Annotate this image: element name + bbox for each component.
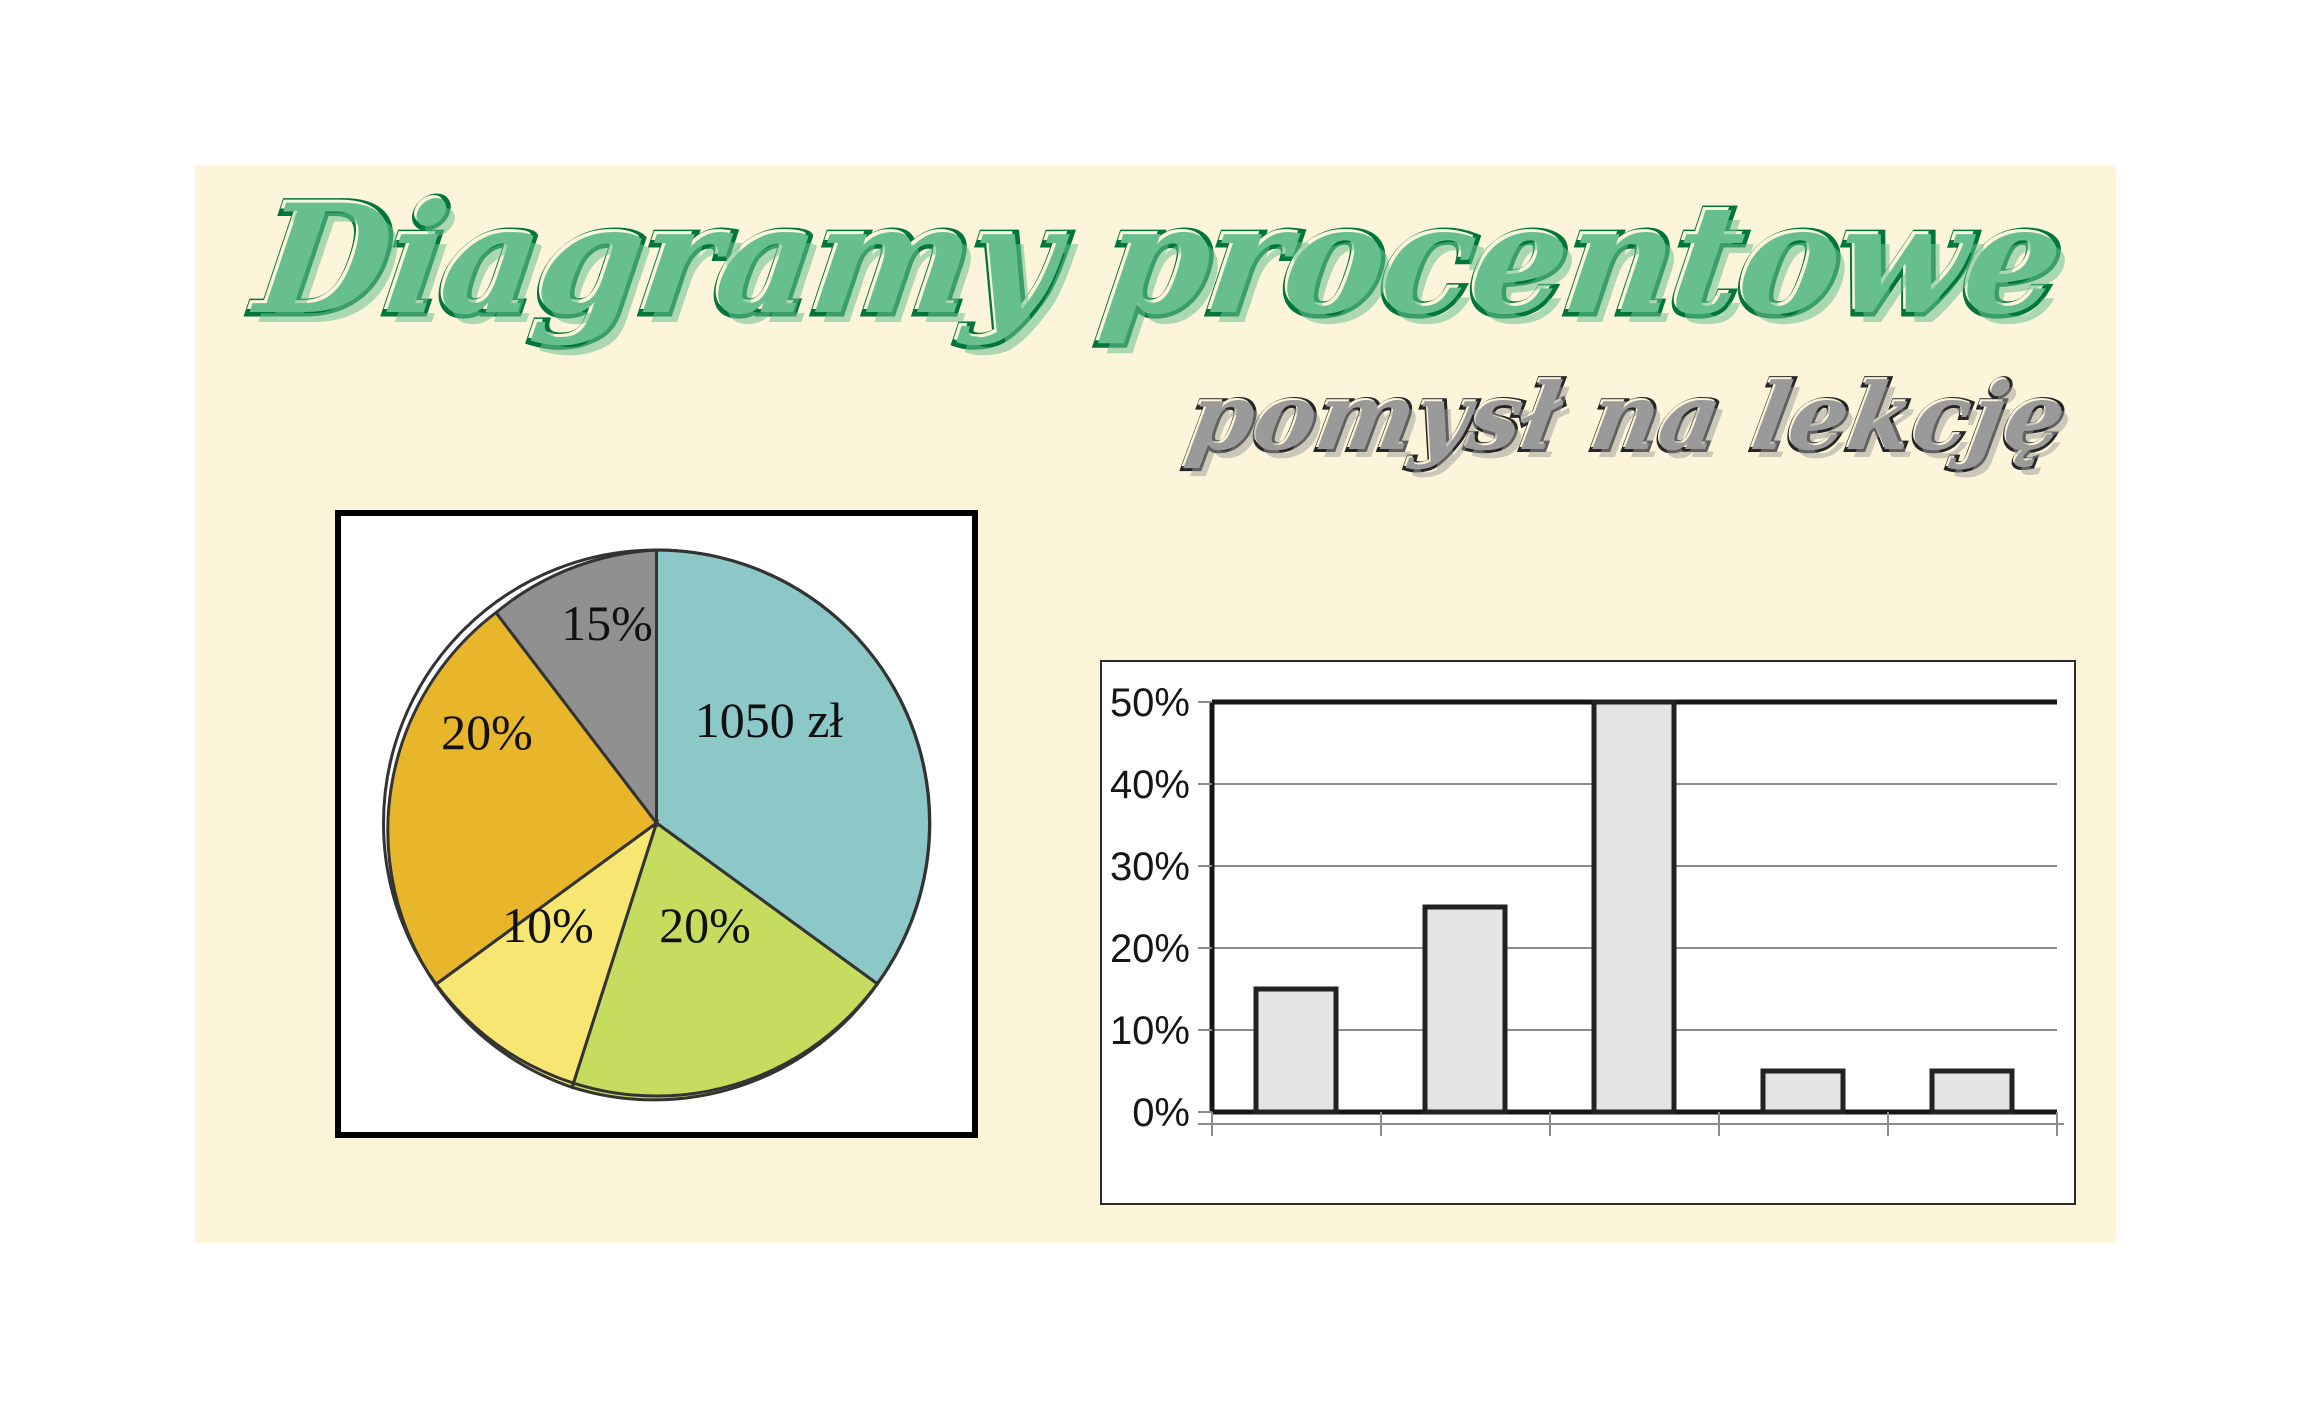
bar-3: [1594, 702, 1674, 1112]
y-tick-30: 30%: [1110, 845, 1190, 889]
y-tick-0: 0%: [1132, 1091, 1190, 1135]
y-tick-20: 20%: [1110, 927, 1190, 971]
pie-label-gold-20: 20%: [441, 704, 533, 760]
pie-chart: 1050 zł 20% 10% 20% 15%: [357, 530, 956, 1116]
pie-label-green-20: 20%: [659, 897, 751, 953]
pie-slices: [384, 550, 930, 1100]
y-tick-50: 50%: [1110, 681, 1190, 725]
pie-label-yellow-10: 10%: [502, 897, 594, 953]
bar-chart-panel: 0% 10% 20% 30% 40% 50%: [1100, 660, 2076, 1205]
pie-label-gray-15: 15%: [561, 595, 653, 651]
pie-label-1050-zl: 1050 zł: [695, 692, 844, 748]
subtitle-block: pomysł na lekcję: [795, 365, 2075, 505]
title-block: Diagramy procentowe: [245, 185, 2075, 375]
pie-chart-panel: 1050 zł 20% 10% 20% 15%: [335, 510, 978, 1138]
page-subtitle: pomysł na lekcję: [1180, 365, 2074, 470]
bar-2: [1425, 907, 1505, 1112]
y-tick-10: 10%: [1110, 1009, 1190, 1053]
bar-1: [1256, 989, 1336, 1112]
poster-canvas: Diagramy procentowe pomysł na lekcję 105…: [195, 165, 2116, 1243]
bar-series: [1256, 702, 2012, 1112]
page-title: Diagramy procentowe: [234, 185, 2085, 335]
bar-5: [1932, 1071, 2012, 1112]
bar-4: [1763, 1071, 1843, 1112]
y-tick-40: 40%: [1110, 763, 1190, 807]
bar-chart: 0% 10% 20% 30% 40% 50%: [1102, 662, 2074, 1203]
bar-y-tick-labels: 0% 10% 20% 30% 40% 50%: [1110, 681, 1190, 1135]
